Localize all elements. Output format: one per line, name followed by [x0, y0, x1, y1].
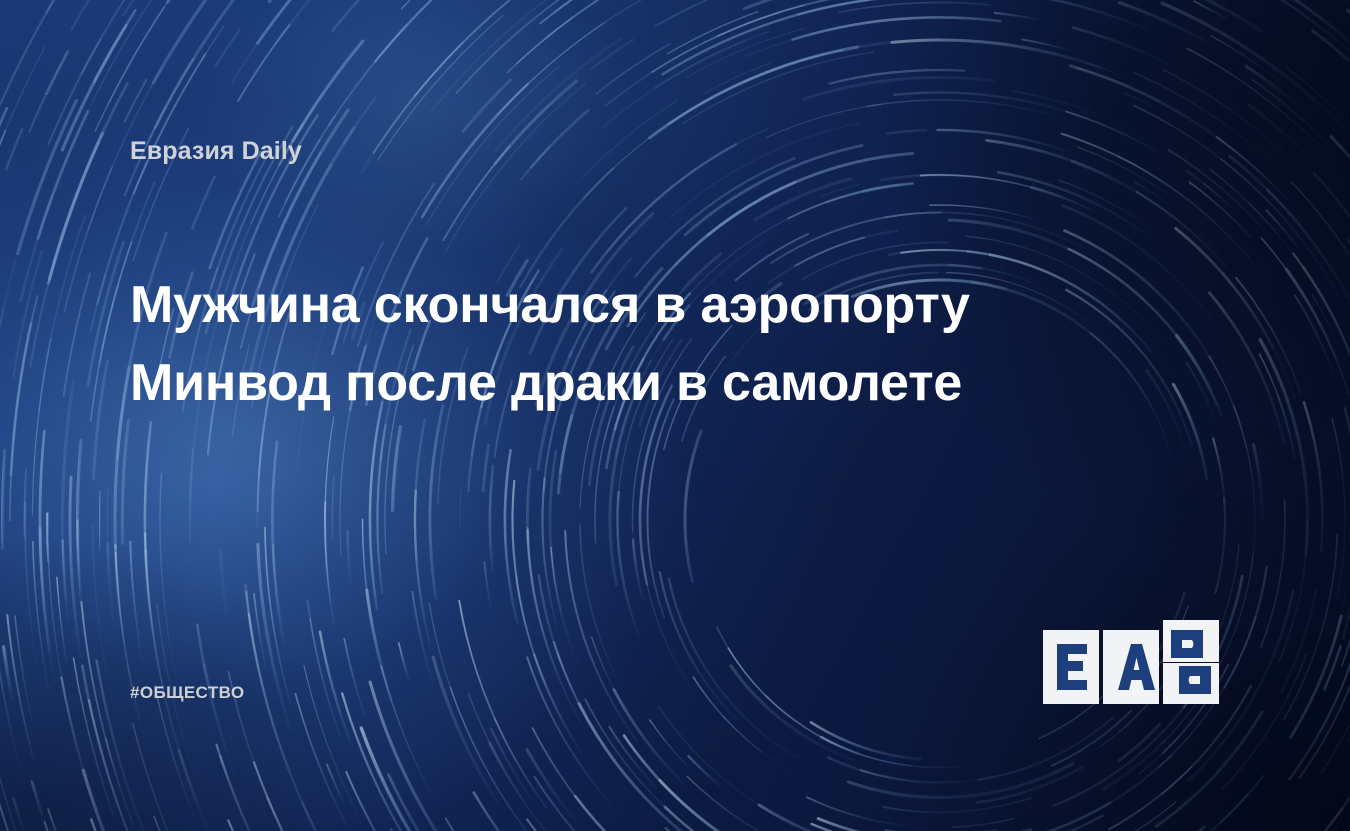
news-share-card: Евразия Daily Мужчина скончался в аэропо…: [0, 0, 1350, 831]
site-name: Евразия Daily: [130, 136, 302, 166]
headline: Мужчина скончался в аэропорту Минвод пос…: [130, 266, 1050, 422]
card-content: Евразия Daily Мужчина скончался в аэропо…: [0, 0, 1350, 831]
ead-logo[interactable]: [1043, 620, 1221, 704]
headline-line-1: Мужчина скончался в аэропорту: [130, 266, 1050, 344]
category-tag[interactable]: #ОБЩЕСТВО: [130, 682, 244, 703]
logo-letter-e: [1057, 644, 1087, 690]
headline-line-2: Минвод после драки в самолете: [130, 344, 1050, 422]
